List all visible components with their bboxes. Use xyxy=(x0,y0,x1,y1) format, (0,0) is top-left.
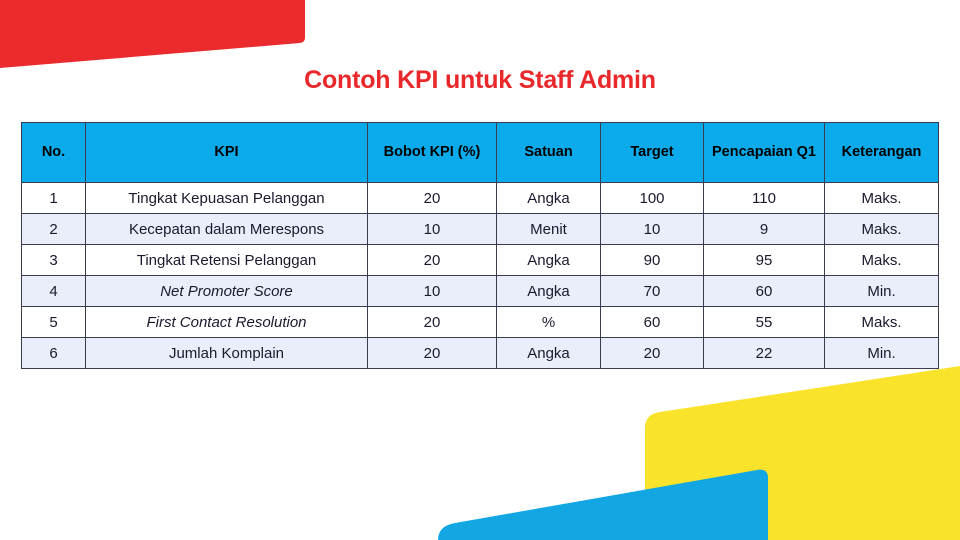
cell-no: 6 xyxy=(22,338,86,369)
table-row: 2Kecepatan dalam Merespons10Menit109Maks… xyxy=(22,214,939,245)
cell-target: 70 xyxy=(601,276,704,307)
cell-bobot-kpi: 10 xyxy=(368,276,497,307)
cell-keterangan: Maks. xyxy=(825,183,939,214)
table-row: 1Tingkat Kepuasan Pelanggan20Angka100110… xyxy=(22,183,939,214)
table-row: 3Tingkat Retensi Pelanggan20Angka9095Mak… xyxy=(22,245,939,276)
cell-kpi: First Contact Resolution xyxy=(86,307,368,338)
cell-pencapaian-q1: 95 xyxy=(704,245,825,276)
cell-kpi: Jumlah Komplain xyxy=(86,338,368,369)
column-header-target: Target xyxy=(601,123,704,183)
cell-kpi: Kecepatan dalam Merespons xyxy=(86,214,368,245)
red-corner-shape xyxy=(0,0,305,68)
cell-satuan: Angka xyxy=(497,338,601,369)
cell-no: 3 xyxy=(22,245,86,276)
cell-target: 100 xyxy=(601,183,704,214)
table-header: No. KPI Bobot KPI (%) Satuan Target Penc… xyxy=(22,123,939,183)
table-row: 5First Contact Resolution20%6055Maks. xyxy=(22,307,939,338)
cell-keterangan: Min. xyxy=(825,338,939,369)
cell-no: 5 xyxy=(22,307,86,338)
table-row: 4Net Promoter Score10Angka7060Min. xyxy=(22,276,939,307)
cell-bobot-kpi: 20 xyxy=(368,338,497,369)
cell-target: 10 xyxy=(601,214,704,245)
cell-pencapaian-q1: 60 xyxy=(704,276,825,307)
table-header-row: No. KPI Bobot KPI (%) Satuan Target Penc… xyxy=(22,123,939,183)
cell-target: 20 xyxy=(601,338,704,369)
cell-keterangan: Min. xyxy=(825,276,939,307)
cell-keterangan: Maks. xyxy=(825,307,939,338)
table-body: 1Tingkat Kepuasan Pelanggan20Angka100110… xyxy=(22,183,939,369)
column-header-keterangan: Keterangan xyxy=(825,123,939,183)
cell-no: 2 xyxy=(22,214,86,245)
cell-pencapaian-q1: 22 xyxy=(704,338,825,369)
blue-corner-shape xyxy=(438,470,768,540)
cell-pencapaian-q1: 9 xyxy=(704,214,825,245)
cell-kpi: Net Promoter Score xyxy=(86,276,368,307)
kpi-table-container: No. KPI Bobot KPI (%) Satuan Target Penc… xyxy=(21,122,938,369)
cell-bobot-kpi: 20 xyxy=(368,183,497,214)
kpi-table: No. KPI Bobot KPI (%) Satuan Target Penc… xyxy=(21,122,939,369)
cell-no: 1 xyxy=(22,183,86,214)
cell-kpi: Tingkat Retensi Pelanggan xyxy=(86,245,368,276)
cell-pencapaian-q1: 110 xyxy=(704,183,825,214)
cell-pencapaian-q1: 55 xyxy=(704,307,825,338)
column-header-bobot-kpi: Bobot KPI (%) xyxy=(368,123,497,183)
cell-bobot-kpi: 20 xyxy=(368,245,497,276)
cell-no: 4 xyxy=(22,276,86,307)
cell-target: 60 xyxy=(601,307,704,338)
cell-target: 90 xyxy=(601,245,704,276)
cell-bobot-kpi: 10 xyxy=(368,214,497,245)
cell-satuan: Angka xyxy=(497,183,601,214)
cell-bobot-kpi: 20 xyxy=(368,307,497,338)
cell-satuan: Angka xyxy=(497,276,601,307)
cell-keterangan: Maks. xyxy=(825,214,939,245)
cell-satuan: % xyxy=(497,307,601,338)
column-header-satuan: Satuan xyxy=(497,123,601,183)
cell-satuan: Menit xyxy=(497,214,601,245)
page-title: Contoh KPI untuk Staff Admin xyxy=(0,66,960,95)
yellow-corner-shape xyxy=(645,366,960,540)
column-header-kpi: KPI xyxy=(86,123,368,183)
column-header-pencapaian: Pencapaian Q1 xyxy=(704,123,825,183)
table-row: 6Jumlah Komplain20Angka2022Min. xyxy=(22,338,939,369)
cell-satuan: Angka xyxy=(497,245,601,276)
cell-kpi: Tingkat Kepuasan Pelanggan xyxy=(86,183,368,214)
cell-keterangan: Maks. xyxy=(825,245,939,276)
column-header-no: No. xyxy=(22,123,86,183)
